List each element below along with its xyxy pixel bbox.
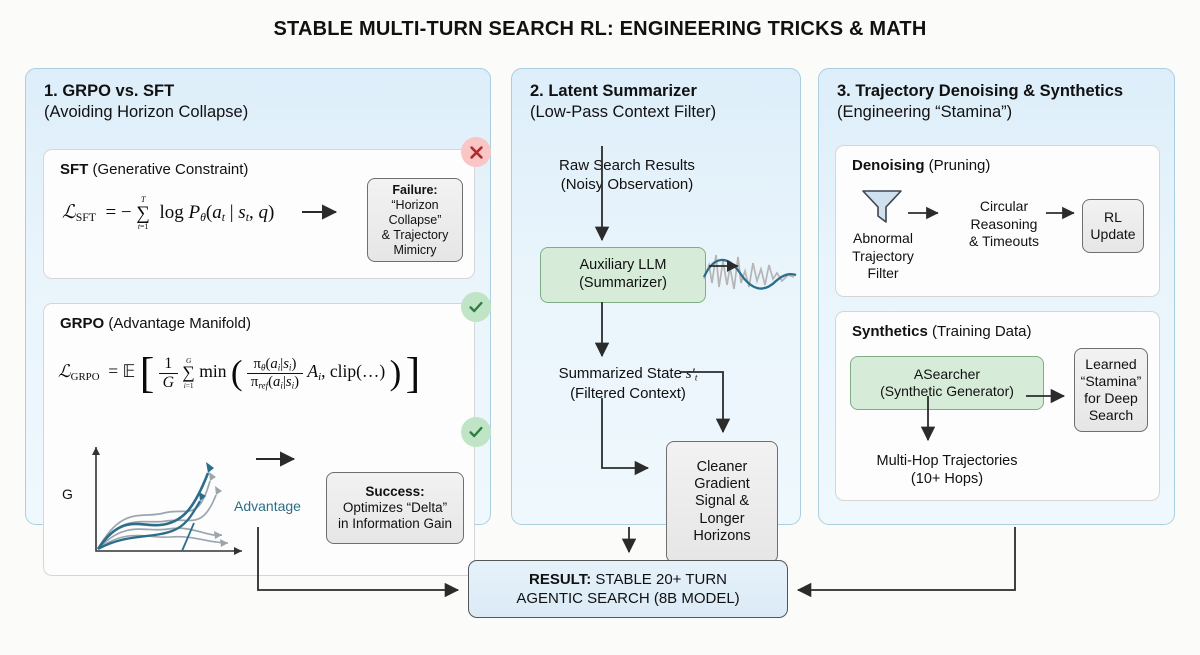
learned-line-3: for Deep <box>1084 390 1138 407</box>
result-label: RESULT: <box>529 571 591 588</box>
card-grpo: GRPO (Advantage Manifold) ℒGRPO = 𝔼 [ 1G… <box>43 303 475 576</box>
raw-search-results-label: Raw Search Results (Noisy Observation) <box>522 157 732 195</box>
result-line-2: AGENTIC SEARCH (8B MODEL) <box>516 590 739 607</box>
card-sft-title: SFT (Generative Constraint) <box>60 161 248 178</box>
circular-line-1: Circular <box>980 198 1028 214</box>
raw-search-line-2: (Noisy Observation) <box>561 176 694 193</box>
grpo-outcome-line-2: in Information Gain <box>338 516 452 532</box>
panel-2-title: 2. Latent Summarizer <box>530 82 697 100</box>
card-sft-title-rest: (Generative Constraint) <box>88 161 248 178</box>
result-box: RESULT: STABLE 20+ TURN AGENTIC SEARCH (… <box>468 560 788 618</box>
rl-update-line-1: RL <box>1104 209 1122 226</box>
result-line-1: STABLE 20+ TURN <box>591 571 727 588</box>
card-synthetics-title: Synthetics (Training Data) <box>852 323 1032 340</box>
card-synthetics-title-bold: Synthetics <box>852 323 928 340</box>
diagram-canvas: STABLE MULTI-TURN SEARCH RL: ENGINEERING… <box>0 0 1200 655</box>
card-denoising-title: Denoising (Pruning) <box>852 157 990 174</box>
close-icon <box>468 144 485 161</box>
multi-hop-line-1: Multi-Hop Trajectories <box>876 453 1017 469</box>
formula-sft: ℒSFT = − T∑t=1 log Pθ(at | st, q) <box>62 196 274 231</box>
panel-2-subtitle: (Low-Pass Context Filter) <box>530 103 716 121</box>
status-badge-success-outcome <box>461 417 491 447</box>
cleaner-line-1: Cleaner <box>697 459 748 476</box>
abnormal-filter-line-1: Abnormal <box>853 230 913 246</box>
grpo-outcome-label: Success: <box>365 484 424 500</box>
circular-reasoning-label: Circular Reasoning & Timeouts <box>952 198 1056 251</box>
cleaner-line-3: Signal & <box>695 493 749 510</box>
abnormal-filter-line-2: Trajectory <box>852 248 914 264</box>
sft-outcome-line-2: & Trajectory <box>382 228 449 243</box>
card-denoising: Denoising (Pruning) Abnormal Trajectory … <box>835 145 1160 297</box>
card-denoising-title-bold: Denoising <box>852 157 925 174</box>
page-title: STABLE MULTI-TURN SEARCH RL: ENGINEERING… <box>0 18 1200 41</box>
panel-1-heading: 1. GRPO vs. SFT (Avoiding Horizon Collap… <box>44 81 480 123</box>
chart-annotation-advantage: Advantage <box>234 498 301 516</box>
rl-update-line-2: Update <box>1090 226 1135 243</box>
circular-line-3: & Timeouts <box>969 233 1039 249</box>
formula-grpo: ℒGRPO = 𝔼 [ 1G G∑i=1 min ( πθ(ai|si)πref… <box>58 348 420 398</box>
auxiliary-llm-box: Auxiliary LLM (Summarizer) <box>540 247 706 303</box>
asearcher-box: ASearcher (Synthetic Generator) <box>850 356 1044 410</box>
cleaner-line-4: Longer <box>699 511 744 528</box>
panel-2-heading: 2. Latent Summarizer (Low-Pass Context F… <box>530 81 790 123</box>
panel-3-subtitle: (Engineering “Stamina”) <box>837 103 1012 121</box>
panel-1-title: 1. GRPO vs. SFT <box>44 82 174 100</box>
card-synthetics: Synthetics (Training Data) ASearcher (Sy… <box>835 311 1160 501</box>
auxiliary-llm-line-1: Auxiliary LLM <box>579 257 666 275</box>
abnormal-filter-line-3: Filter <box>867 265 898 281</box>
status-badge-success-grpo <box>461 292 491 322</box>
chart-axis-label-g: G <box>62 486 73 504</box>
panel-3-title: 3. Trajectory Denoising & Synthetics <box>837 82 1123 100</box>
raw-search-line-1: Raw Search Results <box>559 157 695 174</box>
summarized-state-line-1: Summarized State <box>559 365 682 382</box>
grpo-outcome-line-1: Optimizes “Delta” <box>343 500 447 516</box>
noisy-signal-icon <box>702 243 798 301</box>
sft-outcome-line-1: “Horizon Collapse” <box>374 198 456 228</box>
sft-outcome-box: Failure: “Horizon Collapse” & Trajectory… <box>367 178 463 262</box>
check-icon <box>467 423 485 441</box>
asearcher-line-2: (Synthetic Generator) <box>880 383 1014 400</box>
circular-line-2: Reasoning <box>971 216 1038 232</box>
cleaner-gradient-box: Cleaner Gradient Signal & Longer Horizon… <box>666 441 778 563</box>
funnel-icon <box>859 186 905 226</box>
status-badge-failure <box>461 137 491 167</box>
cleaner-line-2: Gradient <box>694 476 750 493</box>
auxiliary-llm-line-2: (Summarizer) <box>579 275 667 293</box>
panel-3-heading: 3. Trajectory Denoising & Synthetics (En… <box>837 81 1164 123</box>
sft-outcome-line-3: Mimicry <box>393 243 436 258</box>
card-grpo-title: GRPO (Advantage Manifold) <box>60 315 251 332</box>
panel-latent-summarizer: 2. Latent Summarizer (Low-Pass Context F… <box>511 68 801 525</box>
check-icon <box>467 298 485 316</box>
learned-line-2: “Stamina” <box>1081 373 1142 390</box>
summarized-state-line-2: (Filtered Context) <box>570 385 686 402</box>
asearcher-line-1: ASearcher <box>914 366 980 383</box>
rl-update-box: RL Update <box>1082 199 1144 253</box>
result-text: RESULT: STABLE 20+ TURN AGENTIC SEARCH (… <box>516 570 739 609</box>
card-sft-title-bold: SFT <box>60 161 88 178</box>
learned-line-4: Search <box>1089 407 1133 424</box>
cleaner-line-5: Horizons <box>693 528 750 545</box>
sft-outcome-label: Failure: <box>392 183 437 198</box>
panel-grpo-vs-sft: 1. GRPO vs. SFT (Avoiding Horizon Collap… <box>25 68 491 525</box>
abnormal-filter-label: Abnormal Trajectory Filter <box>840 230 926 283</box>
multi-hop-line-2: (10+ Hops) <box>911 471 983 487</box>
card-denoising-title-rest: (Pruning) <box>925 157 991 174</box>
panel-1-subtitle: (Avoiding Horizon Collapse) <box>44 103 248 121</box>
card-grpo-title-rest: (Advantage Manifold) <box>104 315 251 332</box>
card-sft: SFT (Generative Constraint) ℒSFT = − T∑t… <box>43 149 475 279</box>
summarized-state-label: Summarized State s′t (Filtered Context) <box>518 365 738 404</box>
learned-line-1: Learned <box>1085 356 1136 373</box>
panel-trajectory-denoising: 3. Trajectory Denoising & Synthetics (En… <box>818 68 1175 525</box>
card-grpo-title-bold: GRPO <box>60 315 104 332</box>
multi-hop-label: Multi-Hop Trajectories (10+ Hops) <box>848 452 1046 488</box>
grpo-outcome-box: Success: Optimizes “Delta” in Informatio… <box>326 472 464 544</box>
card-synthetics-title-rest: (Training Data) <box>928 323 1032 340</box>
learned-stamina-box: Learned “Stamina” for Deep Search <box>1074 348 1148 432</box>
